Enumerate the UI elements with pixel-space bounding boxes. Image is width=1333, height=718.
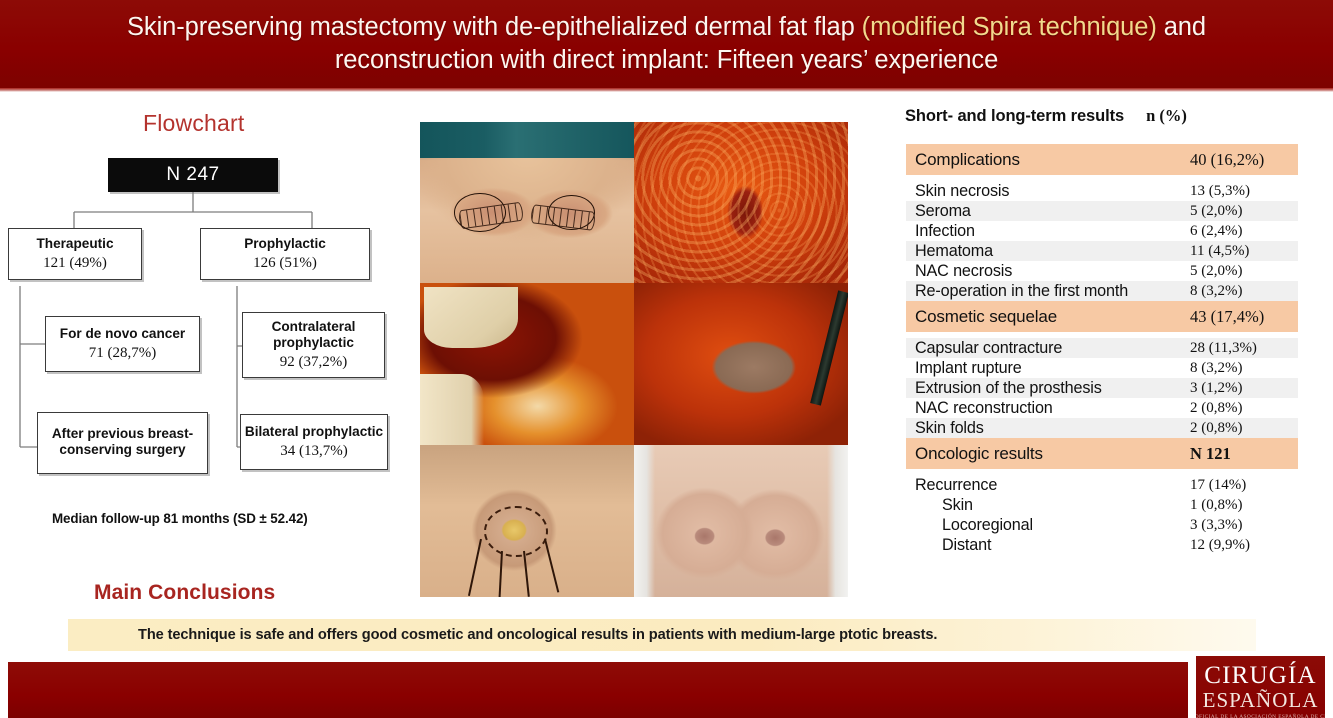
flowchart-box-label: Prophylactic: [244, 236, 326, 252]
results-row-label: Skin folds: [915, 419, 1190, 438]
results-row: NAC reconstruction2 (0,8%): [906, 398, 1298, 418]
results-row-value: 5 (2,0%): [1190, 263, 1298, 280]
results-row-value: 3 (3,3%): [1190, 517, 1298, 534]
conclusion-text: The technique is safe and offers good co…: [68, 627, 937, 643]
results-row: Oncologic resultsN 121: [906, 438, 1298, 469]
flowchart-box-value: 92 (37,2%): [280, 353, 348, 371]
results-row: Distant12 (9,9%): [906, 535, 1298, 555]
results-table: Complications40 (16,2%)Skin necrosis13 (…: [906, 144, 1298, 555]
results-row-label: Re-operation in the first month: [915, 282, 1190, 301]
results-row-value: 6 (2,4%): [1190, 223, 1298, 240]
results-row-label: Implant rupture: [915, 359, 1190, 378]
conclusion-banner: The technique is safe and offers good co…: [68, 619, 1256, 651]
results-row-value: 12 (9,9%): [1190, 537, 1298, 554]
suture-thread-icon: [523, 551, 529, 597]
results-row-label: Hematoma: [915, 242, 1190, 261]
results-row-label: Skin necrosis: [915, 182, 1190, 201]
results-row: Infection6 (2,4%): [906, 221, 1298, 241]
results-row-label: Capsular contracture: [915, 339, 1190, 358]
surgical-instrument-icon: [811, 290, 848, 405]
flowchart-box-bilateral-prophylactic: Bilateral prophylactic 34 (13,7%): [240, 414, 388, 470]
footer-bar: [8, 662, 1188, 718]
flowchart-box-label: Bilateral prophylactic: [245, 424, 383, 440]
suture-thread-icon: [468, 539, 481, 596]
results-row: Locoregional3 (3,3%): [906, 515, 1298, 535]
results-row-value: 8 (3,2%): [1190, 283, 1298, 300]
open-surgical-field-photo: [634, 122, 848, 283]
results-row-label: NAC necrosis: [915, 262, 1190, 281]
results-row: Implant rupture8 (3,2%): [906, 358, 1298, 378]
graphical-abstract-page: Skin-preserving mastectomy with de-epith…: [0, 0, 1333, 718]
title-segment-1: Skin-preserving mastectomy with de-epith…: [127, 13, 862, 41]
results-row-value: 8 (3,2%): [1190, 360, 1298, 377]
page-title: Skin-preserving mastectomy with de-epith…: [52, 11, 1281, 78]
results-row: Capsular contracture28 (11,3%): [906, 338, 1298, 358]
results-row-label: Recurrence: [915, 476, 1190, 495]
results-row: Skin folds2 (0,8%): [906, 418, 1298, 438]
results-row-value: 2 (0,8%): [1190, 420, 1298, 437]
title-banner: Skin-preserving mastectomy with de-epith…: [0, 0, 1333, 88]
results-row-label: Oncologic results: [915, 444, 1190, 464]
results-row-label: Cosmetic sequelae: [915, 307, 1190, 327]
results-row-value: 1 (0,8%): [1190, 497, 1298, 514]
suture-thread-icon: [544, 539, 559, 592]
results-row: Recurrence17 (14%): [906, 475, 1298, 495]
results-row-value: 5 (2,0%): [1190, 203, 1298, 220]
preoperative-markings-photo: [420, 122, 634, 283]
suture-ring-icon: [484, 506, 548, 558]
title-accent-segment: (modified Spira technique): [862, 13, 1157, 41]
results-row-label: Infection: [915, 222, 1190, 241]
banner-divider: [0, 88, 1333, 92]
journal-logo: CIRUGÍA ESPAÑOLA ÓRGANO OFICIAL DE LA AS…: [1196, 656, 1325, 718]
logo-line-1: CIRUGÍA: [1204, 663, 1317, 688]
flowchart-heading: Flowchart: [143, 110, 245, 137]
results-title: Short- and long-term results: [905, 107, 1124, 126]
results-row-label: Locoregional: [915, 516, 1190, 535]
logo-line-3: ÓRGANO OFICIAL DE LA ASOCIACIÓN ESPAÑOLA…: [1196, 714, 1325, 718]
results-row: Extrusion of the prosthesis3 (1,2%): [906, 378, 1298, 398]
results-row-value: 11 (4,5%): [1190, 243, 1298, 260]
results-row: Hematoma11 (4,5%): [906, 241, 1298, 261]
results-row-value: 43 (17,4%): [1190, 307, 1298, 327]
suture-thread-icon: [499, 551, 503, 597]
results-row-value: 13 (5,3%): [1190, 183, 1298, 200]
results-row: Skin necrosis13 (5,3%): [906, 181, 1298, 201]
results-row-label: Extrusion of the prosthesis: [915, 379, 1190, 398]
results-row-label: Complications: [915, 150, 1190, 170]
sutured-nac-photo: [420, 445, 634, 597]
flowchart-box-label: Therapeutic: [36, 236, 113, 252]
flowchart-box-contralateral-prophylactic: Contralateral prophylactic 92 (37,2%): [242, 312, 385, 378]
flowchart-box-after-breast-conserving-surgery: After previous breast-conserving surgery: [37, 412, 208, 474]
flowchart-box-therapeutic: Therapeutic 121 (49%): [8, 228, 142, 280]
flowchart-box-de-novo-cancer: For de novo cancer 71 (28,7%): [45, 316, 200, 372]
logo-line-2: ESPAÑOLA: [1203, 688, 1319, 712]
results-row: Cosmetic sequelae43 (17,4%): [906, 301, 1298, 332]
surgical-photo-collage: [420, 122, 848, 597]
flowchart-box-label: After previous breast-conserving surgery: [38, 426, 207, 459]
results-table-header: Short- and long-term results n (%): [905, 106, 1305, 126]
results-row: Seroma5 (2,0%): [906, 201, 1298, 221]
results-row-value: N 121: [1190, 444, 1298, 464]
flowchart-box-prophylactic: Prophylactic 126 (51%): [200, 228, 370, 280]
results-row-label: Skin: [915, 496, 1190, 515]
main-conclusions-heading: Main Conclusions: [94, 581, 275, 605]
flowchart-box-value: 34 (13,7%): [280, 442, 348, 460]
results-row-value: 17 (14%): [1190, 477, 1298, 494]
results-row: Re-operation in the first month8 (3,2%): [906, 281, 1298, 301]
results-row-value: 28 (11,3%): [1190, 340, 1298, 357]
results-row-label: NAC reconstruction: [915, 399, 1190, 418]
results-row-label: Distant: [915, 536, 1190, 555]
results-row-value: 3 (1,2%): [1190, 380, 1298, 397]
results-row: Complications40 (16,2%): [906, 144, 1298, 175]
results-row: NAC necrosis5 (2,0%): [906, 261, 1298, 281]
results-row-value: 40 (16,2%): [1190, 150, 1298, 170]
postoperative-result-photo: [634, 445, 848, 597]
flowchart-followup-note: Median follow-up 81 months (SD ± 52.42): [52, 511, 308, 526]
flowchart-box-value: 71 (28,7%): [89, 344, 157, 362]
results-row-label: Seroma: [915, 202, 1190, 221]
flowchart-box-label: For de novo cancer: [60, 326, 185, 342]
results-row: Skin1 (0,8%): [906, 495, 1298, 515]
implant-pocket-photo: [634, 283, 848, 445]
results-row-value: 2 (0,8%): [1190, 400, 1298, 417]
results-value-column-header: n (%): [1146, 106, 1187, 126]
flowchart-box-value: 126 (51%): [253, 254, 317, 272]
flap-elevation-photo: [420, 283, 634, 445]
flowchart-box-value: 121 (49%): [43, 254, 107, 272]
flowchart-box-label: Contralateral prophylactic: [243, 319, 384, 352]
